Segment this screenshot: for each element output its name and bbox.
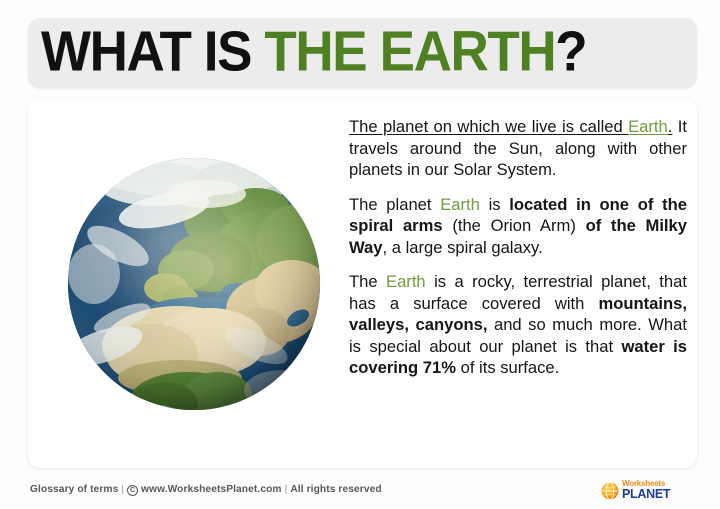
- paragraph-composition: The Earth is a rocky, terrestrial planet…: [349, 271, 687, 379]
- page-title-part-1: WHAT IS: [41, 19, 264, 83]
- header-card: WHAT IS THE EARTH?: [28, 18, 697, 88]
- content-card: The planet on which we live is called Ea…: [28, 99, 697, 468]
- copyright-icon: C: [127, 485, 138, 496]
- brand-wordmark: Worksheets PLANET: [622, 479, 686, 501]
- page-title: WHAT IS THE EARTH?: [41, 23, 627, 80]
- location-seg-3: is: [480, 195, 509, 214]
- page-title-part-3: ?: [555, 19, 586, 83]
- worksheets-planet-logo[interactable]: Worksheets PLANET: [601, 477, 687, 505]
- footer-separator-1: |: [118, 484, 127, 495]
- earth-globe-svg: [60, 150, 328, 418]
- paragraph-location: The planet Earth is located in one of th…: [349, 194, 687, 259]
- earth-keyword: Earth: [386, 272, 426, 291]
- footer-credits: Glossary of terms|C www.WorksheetsPlanet…: [30, 484, 382, 496]
- paragraph-definition: The planet on which we live is called Ea…: [349, 116, 687, 181]
- location-seg-1: The planet: [349, 195, 440, 214]
- planet-globe-icon: [601, 482, 619, 500]
- earth-keyword: Earth: [628, 117, 668, 136]
- composition-seg-7: of its surface.: [456, 358, 559, 377]
- footer-rights: All rights reserved: [290, 484, 381, 495]
- worksheet-page: WHAT IS THE EARTH?: [0, 0, 720, 509]
- definition-text-column: The planet on which we live is called Ea…: [349, 116, 687, 379]
- footer-website[interactable]: www.WorksheetsPlanet.com: [141, 484, 282, 495]
- earth-globe-image: [46, 118, 342, 450]
- location-seg-7: , a large spiral galaxy.: [383, 238, 543, 257]
- page-title-part-2: THE EARTH: [264, 19, 555, 83]
- earth-keyword: Earth: [440, 195, 480, 214]
- footer-glossary-label: Glossary of terms: [30, 484, 118, 495]
- definition-underlined-lead: The planet on which we live is called: [349, 117, 628, 136]
- footer: Glossary of terms|C www.WorksheetsPlanet…: [28, 481, 697, 503]
- location-orion-arm: (the Orion Arm): [452, 216, 576, 235]
- brand-name-bottom: PLANET: [622, 488, 686, 501]
- composition-seg-1: The: [349, 272, 386, 291]
